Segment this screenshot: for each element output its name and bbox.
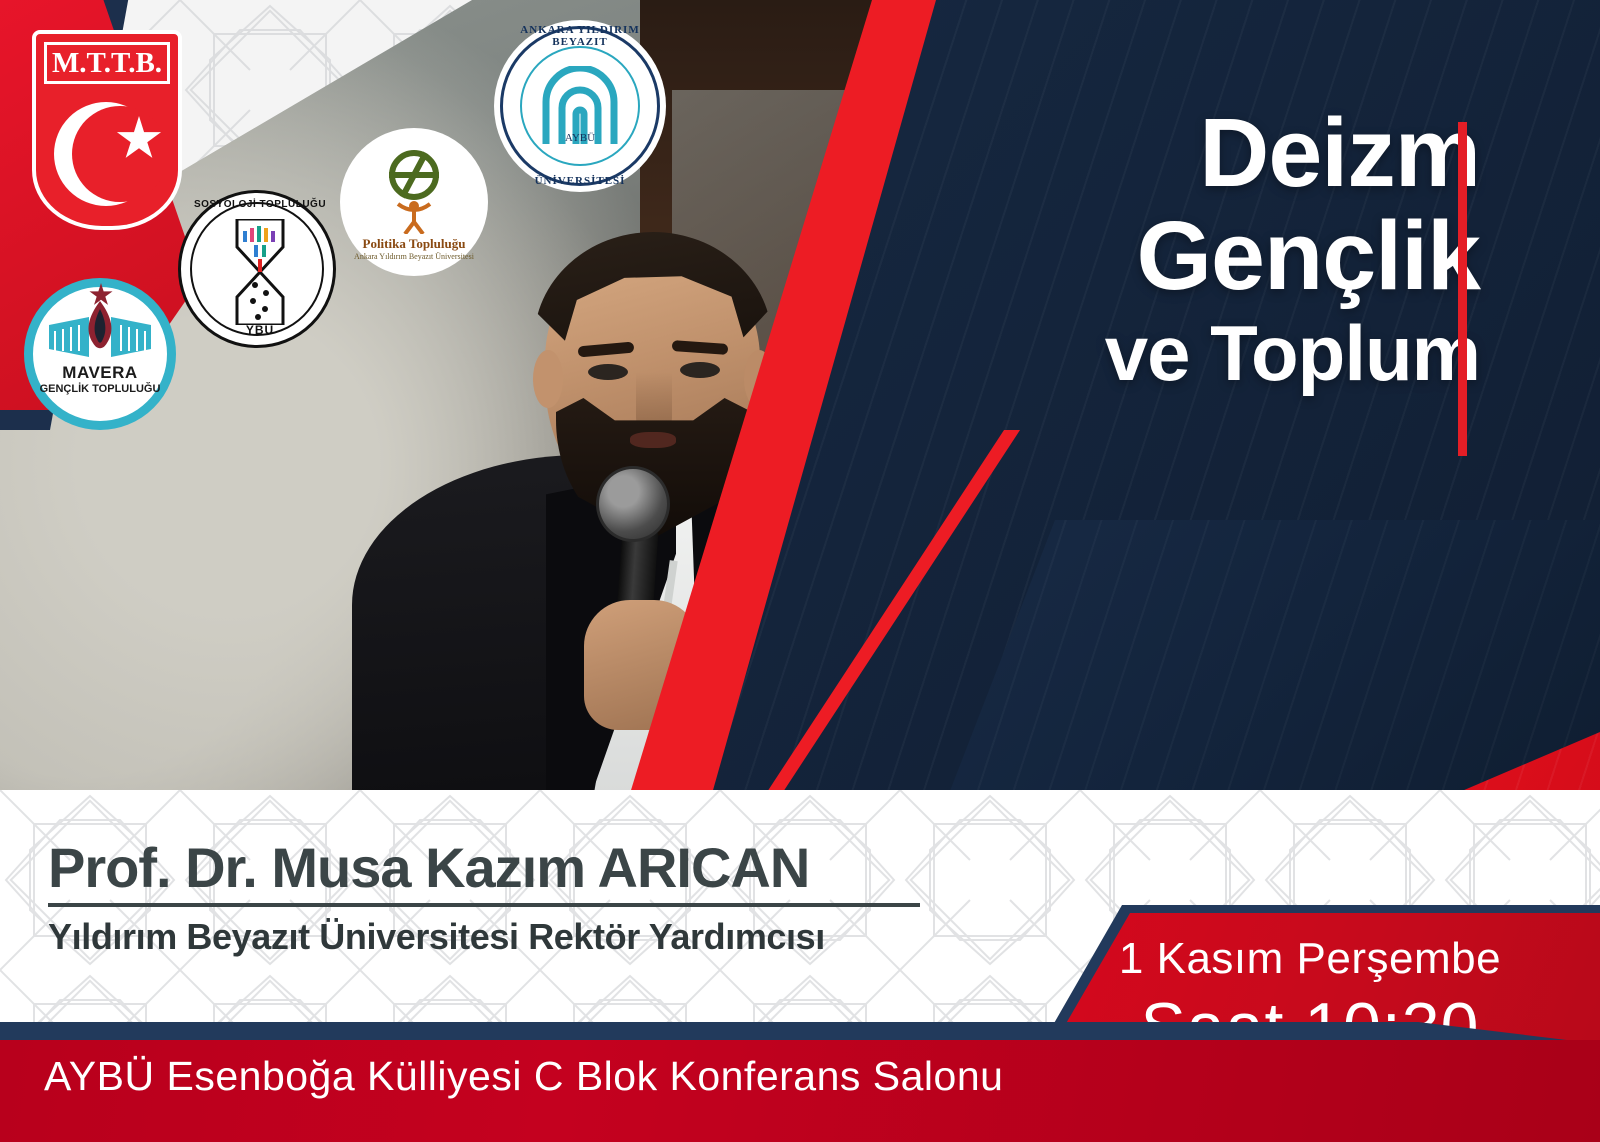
person-icon bbox=[396, 200, 432, 234]
speaker-role: Yıldırım Beyazıt Üniversitesi Rektör Yar… bbox=[48, 916, 928, 958]
logo-mavera-genclik-toplulugu: MAVERA GENÇLİK TOPLULUĞU 2016 bbox=[24, 278, 176, 430]
aybu-center-text: AYBÜ bbox=[494, 132, 666, 144]
logo-mttb: M.T.T.B. bbox=[32, 30, 182, 230]
aybu-top-text: ANKARA YILDIRIM BEYAZIT bbox=[494, 24, 666, 48]
event-date: 1 Kasım Perşembe bbox=[1060, 934, 1560, 984]
title-line-1: Deizm bbox=[1010, 108, 1480, 197]
title-line-2: Gençlik bbox=[1010, 211, 1480, 300]
hourglass-icon bbox=[233, 219, 287, 325]
flame-icon bbox=[85, 301, 115, 353]
aybu-bottom-text: ÜNİVERSİTESİ bbox=[494, 175, 666, 187]
mavera-year: 2016 bbox=[33, 407, 167, 418]
mavera-sub: GENÇLİK TOPLULUĞU bbox=[33, 383, 167, 395]
event-venue: AYBÜ Esenboğa Külliyesi C Blok Konferans… bbox=[44, 1053, 1044, 1100]
speaker-name-rule bbox=[48, 903, 920, 907]
logo-sosyoloji-toplulugu: SOSYOLOJİ TOPLULUĞU YBÜ bbox=[178, 190, 336, 348]
speaker-name: Prof. Dr. Musa Kazım ARICAN bbox=[48, 835, 928, 900]
sosyoloji-bottom-text: YBÜ bbox=[181, 323, 339, 337]
title-accent-bar bbox=[1458, 122, 1467, 456]
globe-icon bbox=[389, 150, 439, 200]
mttb-abbrev: M.T.T.B. bbox=[44, 42, 170, 84]
poster-title: Deizm Gençlik ve Toplum bbox=[1010, 108, 1480, 390]
logo-politika-toplulugu: Politika Topluluğu Ankara Yıldırım Beyaz… bbox=[340, 128, 488, 276]
politika-sub: Ankara Yıldırım Beyazıt Üniversitesi bbox=[340, 252, 488, 261]
logo-aybu: ANKARA YILDIRIM BEYAZIT AYBÜ ÜNİVERSİTES… bbox=[494, 20, 666, 192]
event-poster: Deizm Gençlik ve Toplum Prof. Dr. Musa K… bbox=[0, 0, 1600, 1142]
politika-name: Politika Topluluğu bbox=[340, 236, 488, 252]
mavera-name: MAVERA bbox=[33, 363, 167, 383]
sosyoloji-top-text: SOSYOLOJİ TOPLULUĞU bbox=[181, 199, 339, 210]
title-line-3: ve Toplum bbox=[1010, 318, 1480, 390]
